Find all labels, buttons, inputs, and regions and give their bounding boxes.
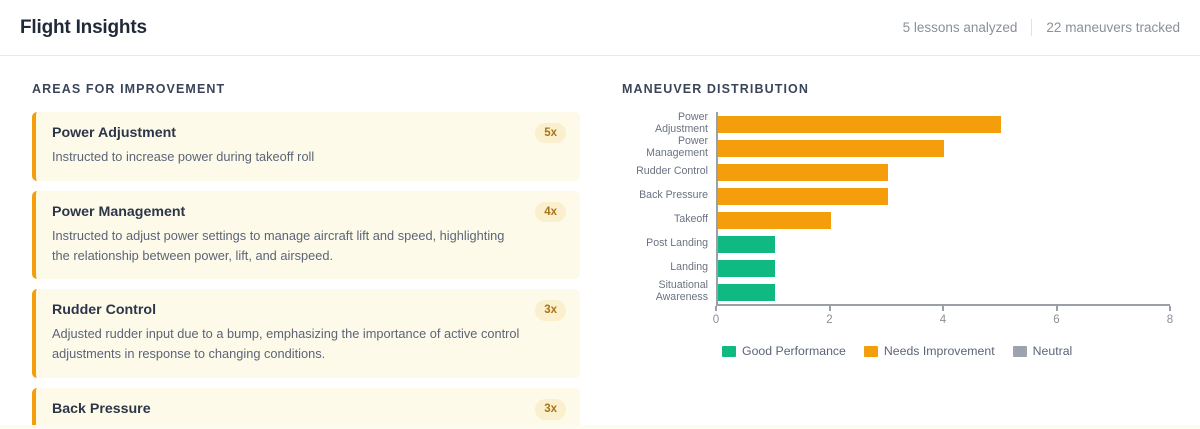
chart-category-label: Power Adjustment bbox=[622, 112, 716, 136]
chart-bar[interactable] bbox=[718, 284, 775, 301]
legend-label: Good Performance bbox=[742, 344, 846, 358]
improvement-card[interactable]: Power ManagementInstructed to adjust pow… bbox=[32, 191, 580, 280]
improvement-card-description: Building back pressure noted as getting … bbox=[52, 423, 522, 429]
chart-bar-track bbox=[716, 208, 1170, 232]
chart-bar-rows: Power AdjustmentPower ManagementRudder C… bbox=[622, 112, 1170, 304]
legend-label: Neutral bbox=[1033, 344, 1073, 358]
chart-bar-row: Rudder Control bbox=[622, 160, 1170, 184]
chart-bar[interactable] bbox=[718, 236, 775, 253]
improvement-card-description: Instructed to adjust power settings to m… bbox=[52, 226, 522, 266]
stat-maneuvers-tracked: 22 maneuvers tracked bbox=[1046, 20, 1180, 35]
improvement-card-count-badge: 3x bbox=[535, 300, 566, 320]
x-axis-tick-label: 0 bbox=[713, 314, 719, 326]
x-axis-tick bbox=[829, 306, 831, 311]
areas-for-improvement-panel: Areas for Improvement Power AdjustmentIn… bbox=[0, 82, 600, 429]
improvement-card-title: Power Management bbox=[52, 204, 522, 220]
chart-category-label: Rudder Control bbox=[622, 166, 716, 178]
x-axis-tick-label: 8 bbox=[1167, 314, 1173, 326]
legend-item[interactable]: Neutral bbox=[1013, 344, 1073, 358]
stat-divider bbox=[1031, 19, 1032, 36]
x-axis-tick-label: 4 bbox=[940, 314, 946, 326]
legend-item[interactable]: Needs Improvement bbox=[864, 344, 995, 358]
legend-item[interactable]: Good Performance bbox=[722, 344, 846, 358]
chart-category-label: Situational Awareness bbox=[622, 280, 716, 304]
improvement-card[interactable]: Back PressureBuilding back pressure note… bbox=[32, 388, 580, 429]
chart-category-label: Power Management bbox=[622, 136, 716, 160]
chart-bar-track bbox=[716, 112, 1170, 136]
improvement-card-count-badge: 5x bbox=[535, 123, 566, 143]
chart-bar[interactable] bbox=[718, 140, 944, 157]
x-axis-line: 02468 bbox=[716, 304, 1170, 330]
header-stats: 5 lessons analyzed 22 maneuvers tracked bbox=[903, 19, 1180, 36]
chart-bar-track bbox=[716, 160, 1170, 184]
x-axis-tick bbox=[1169, 306, 1171, 311]
chart-category-label: Takeoff bbox=[622, 214, 716, 226]
maneuver-distribution-title: Maneuver Distribution bbox=[622, 82, 1170, 96]
chart-bar-track bbox=[716, 184, 1170, 208]
legend-swatch bbox=[864, 346, 878, 357]
chart-bar-track bbox=[716, 136, 1170, 160]
x-axis-tick-label: 2 bbox=[826, 314, 832, 326]
legend-swatch bbox=[722, 346, 736, 357]
chart-bar-row: Power Adjustment bbox=[622, 112, 1170, 136]
chart-bar-row: Landing bbox=[622, 256, 1170, 280]
improvement-card[interactable]: Power AdjustmentInstructed to increase p… bbox=[32, 112, 580, 181]
chart-x-axis: 02468 bbox=[622, 304, 1170, 330]
improvement-card-title: Power Adjustment bbox=[52, 125, 522, 141]
chart-legend: Good PerformanceNeeds ImprovementNeutral bbox=[622, 344, 1170, 358]
improvement-card-description: Instructed to increase power during take… bbox=[52, 147, 522, 167]
maneuver-distribution-panel: Maneuver Distribution Power AdjustmentPo… bbox=[600, 82, 1200, 429]
legend-label: Needs Improvement bbox=[884, 344, 995, 358]
chart-bar[interactable] bbox=[718, 260, 775, 277]
chart-category-label: Post Landing bbox=[622, 238, 716, 250]
improvement-card[interactable]: Rudder ControlAdjusted rudder input due … bbox=[32, 289, 580, 378]
legend-swatch bbox=[1013, 346, 1027, 357]
improvement-card-title: Back Pressure bbox=[52, 401, 522, 417]
improvement-card-count-badge: 3x bbox=[535, 399, 566, 419]
chart-bar[interactable] bbox=[718, 212, 831, 229]
stat-lessons-analyzed: 5 lessons analyzed bbox=[903, 20, 1018, 35]
x-axis-tick-label: 6 bbox=[1053, 314, 1059, 326]
chart-bar-track bbox=[716, 256, 1170, 280]
improvement-card-list: Power AdjustmentInstructed to increase p… bbox=[32, 112, 580, 429]
chart-bar[interactable] bbox=[718, 116, 1001, 133]
chart-bar-track bbox=[716, 232, 1170, 256]
maneuver-distribution-chart: Power AdjustmentPower ManagementRudder C… bbox=[622, 112, 1170, 358]
chart-bar-track bbox=[716, 280, 1170, 304]
chart-bar-row: Power Management bbox=[622, 136, 1170, 160]
main-content: Areas for Improvement Power AdjustmentIn… bbox=[0, 56, 1200, 429]
improvement-card-title: Rudder Control bbox=[52, 302, 522, 318]
app-header: Flight Insights 5 lessons analyzed 22 ma… bbox=[0, 0, 1200, 56]
chart-bar[interactable] bbox=[718, 164, 888, 181]
x-axis-tick bbox=[1056, 306, 1058, 311]
chart-category-label: Back Pressure bbox=[622, 190, 716, 202]
chart-bar-row: Situational Awareness bbox=[622, 280, 1170, 304]
chart-bar-row: Post Landing bbox=[622, 232, 1170, 256]
areas-for-improvement-title: Areas for Improvement bbox=[32, 82, 580, 96]
chart-bar-row: Back Pressure bbox=[622, 184, 1170, 208]
x-axis-tick bbox=[942, 306, 944, 311]
improvement-card-description: Adjusted rudder input due to a bump, emp… bbox=[52, 324, 522, 364]
chart-bar[interactable] bbox=[718, 188, 888, 205]
page-title: Flight Insights bbox=[20, 17, 147, 39]
chart-category-label: Landing bbox=[622, 262, 716, 274]
chart-bar-row: Takeoff bbox=[622, 208, 1170, 232]
x-axis-tick bbox=[715, 306, 717, 311]
improvement-card-count-badge: 4x bbox=[535, 202, 566, 222]
